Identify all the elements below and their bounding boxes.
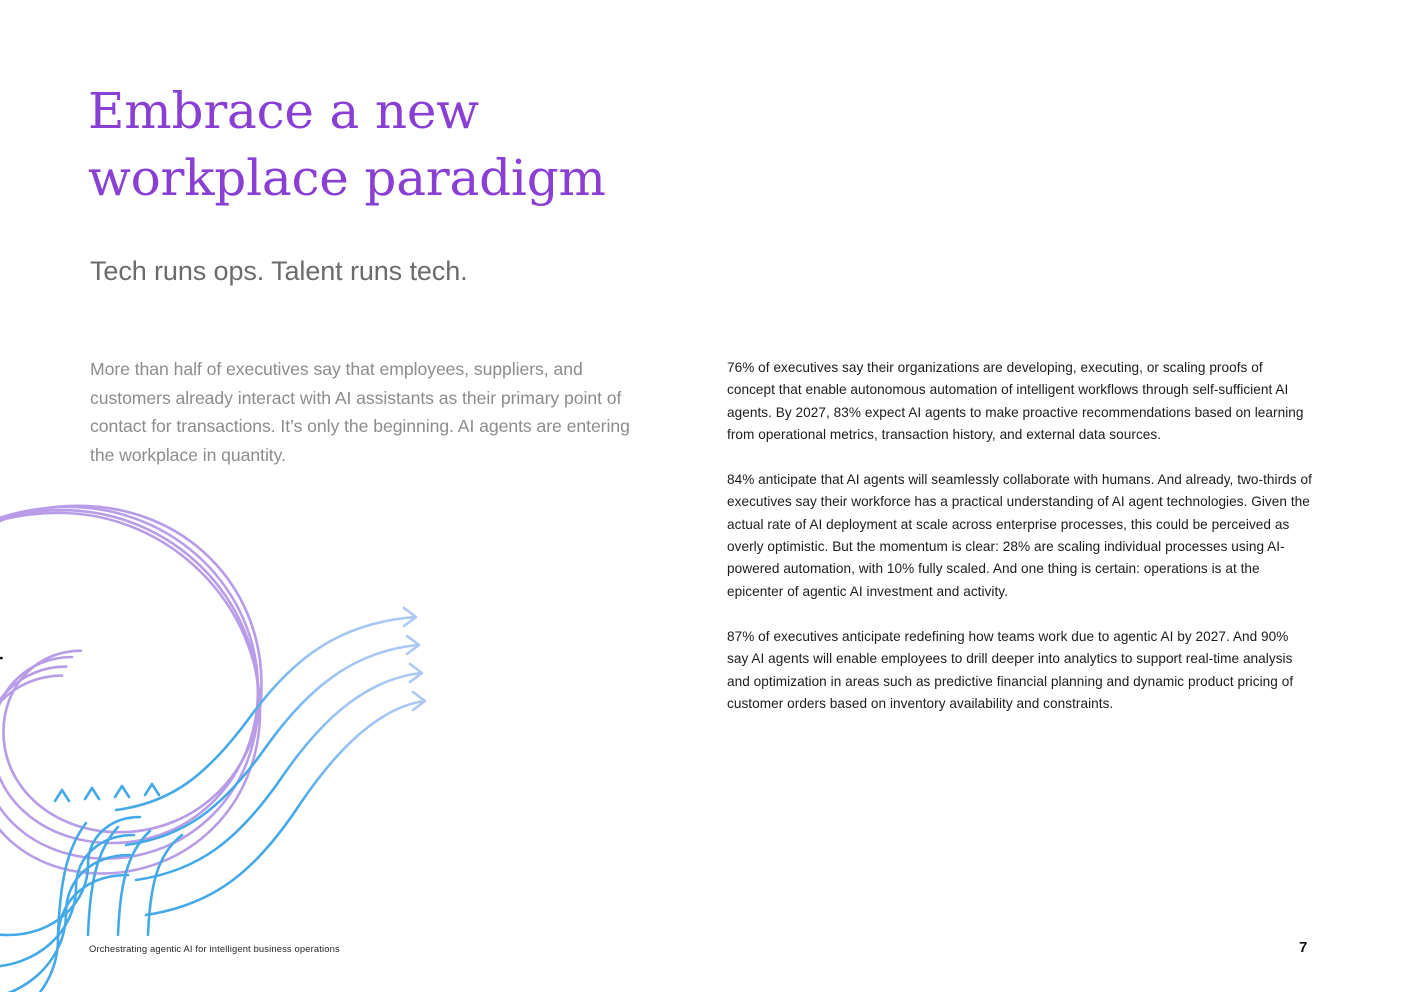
body-paragraph-3: 87% of executives anticipate redefining … [727, 626, 1312, 715]
graphic-dotted-segments [0, 658, 2, 783]
title-block: Embrace a new workplace paradigm [88, 78, 728, 212]
page-title: Embrace a new workplace paradigm [88, 78, 728, 212]
left-column: More than half of executives say that em… [90, 355, 630, 469]
document-page: Embrace a new workplace paradigm Tech ru… [0, 0, 1403, 992]
graphic-blue-streams [116, 617, 424, 915]
page-number: 7 [1299, 938, 1307, 958]
flowing-lines-decoration [0, 455, 470, 935]
right-column: 76% of executives say their organization… [727, 357, 1312, 715]
page-subtitle: Tech runs ops. Talent runs tech. [90, 252, 468, 290]
graphic-purple-loops [0, 506, 261, 874]
up-arrow-icon-group [55, 784, 159, 801]
footer-note: Orchestrating agentic AI for intelligent… [89, 942, 340, 955]
right-arrow-icon-group [404, 608, 425, 710]
body-paragraph-1: 76% of executives say their organization… [727, 357, 1312, 446]
intro-paragraph: More than half of executives say that em… [90, 355, 630, 469]
body-paragraph-2: 84% anticipate that AI agents will seaml… [727, 469, 1312, 603]
graphic-vertical-streams [58, 823, 182, 935]
